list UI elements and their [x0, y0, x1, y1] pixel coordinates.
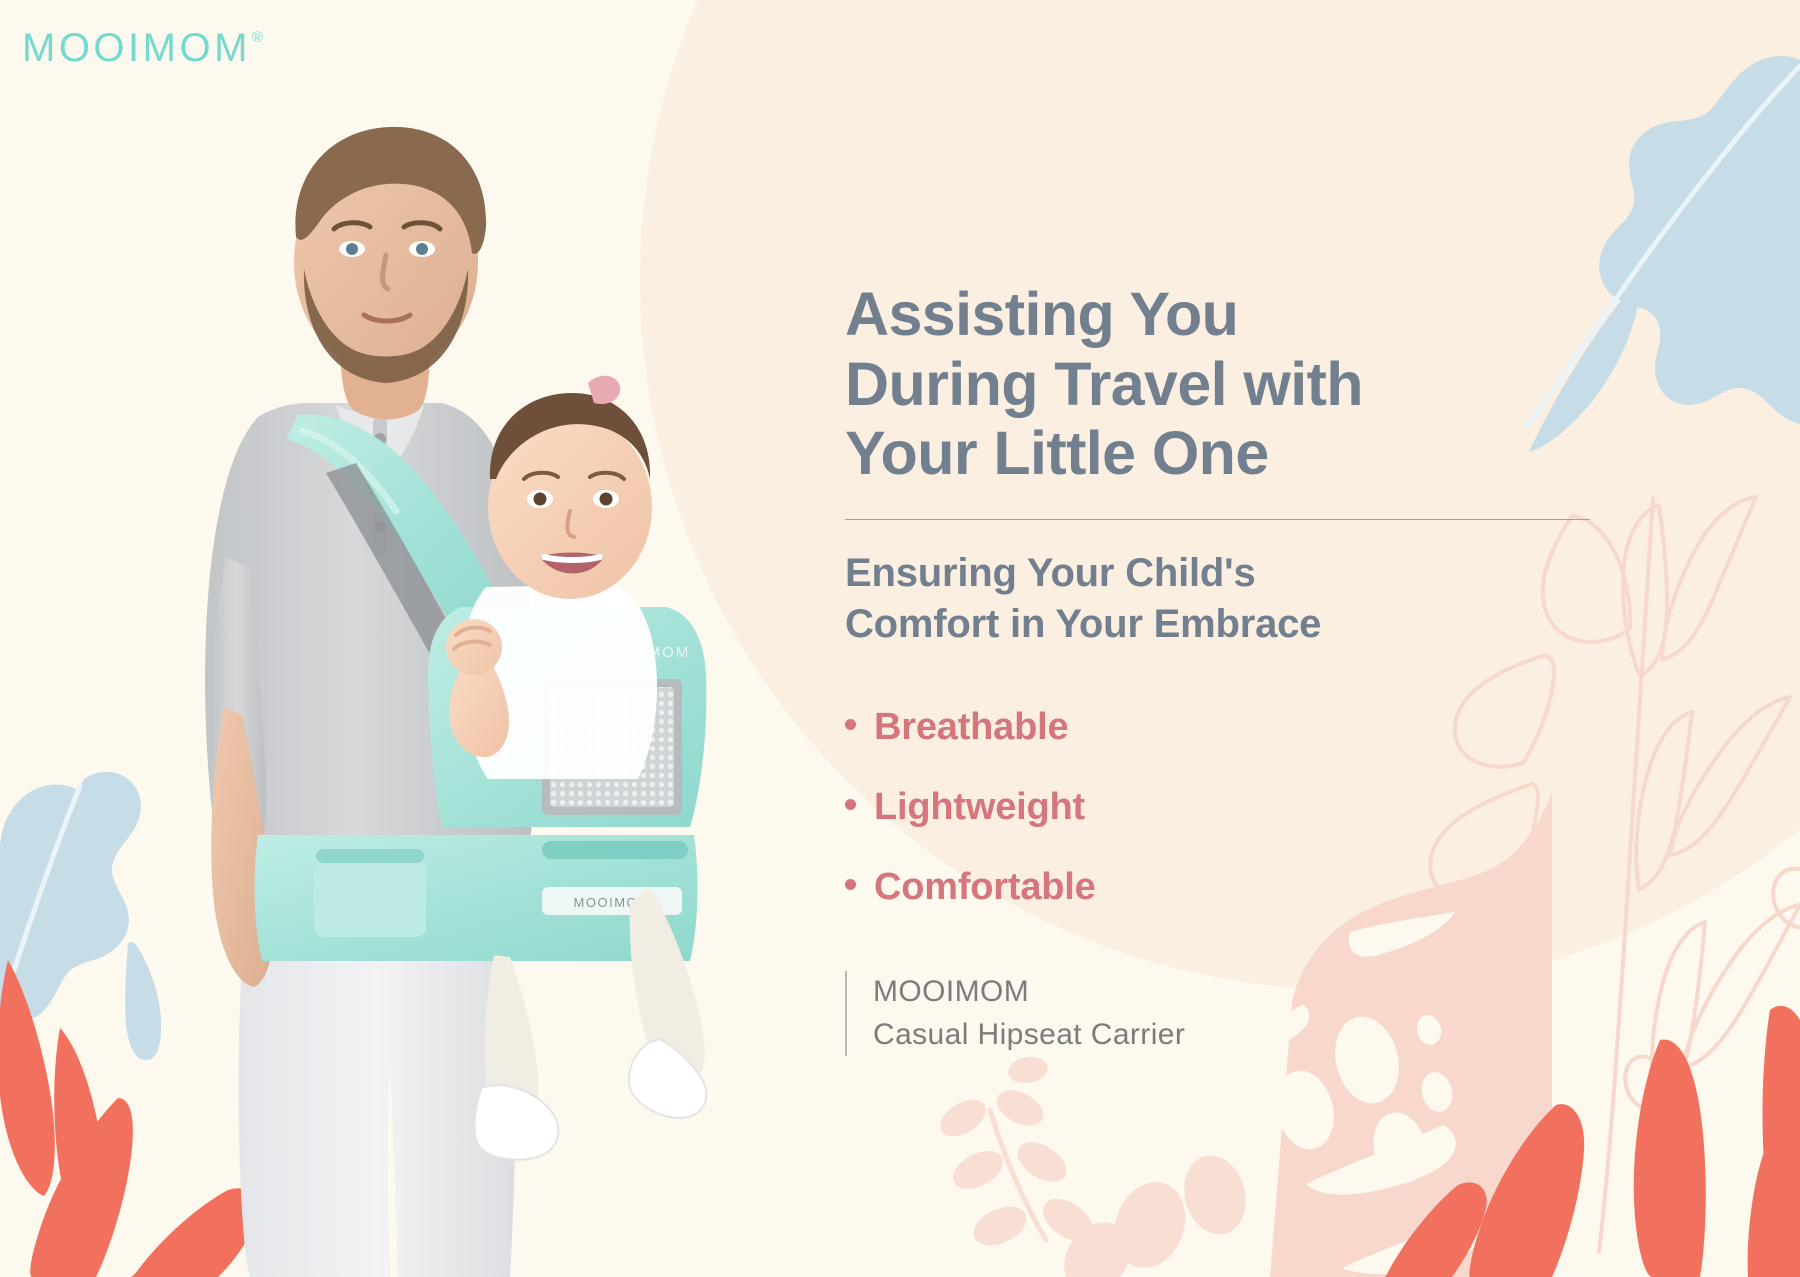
product-brand: MOOIMOM: [873, 971, 1635, 1014]
hipseat-pocket: [314, 859, 426, 937]
product-name: Casual Hipseat Carrier: [873, 1014, 1635, 1057]
feature-label: Comfortable: [874, 866, 1096, 909]
list-item: Breathable: [845, 706, 1635, 749]
feature-label: Lightweight: [874, 786, 1085, 829]
promo-banner: MOOIMOM ®: [0, 0, 1800, 1277]
headline: Assisting You During Travel with Your Li…: [845, 280, 1635, 489]
hero-photo-illustration: MOOIMOM MOOIMOM: [90, 87, 770, 1277]
headline-divider: [845, 519, 1590, 520]
subheadline-line-1: Ensuring Your Child's: [845, 551, 1256, 595]
headline-line-3: Your Little One: [845, 419, 1269, 487]
product-caption: MOOIMOM Casual Hipseat Carrier: [845, 971, 1635, 1056]
bullet-dot-icon: [845, 799, 856, 810]
sprig-bottom-center-2: [1051, 1149, 1255, 1277]
baby-shoe-left: [475, 1085, 559, 1160]
bullet-dot-icon: [845, 879, 856, 890]
mooimom-logo: MOOIMOM ®: [22, 28, 263, 68]
bullet-dot-icon: [845, 719, 856, 730]
feature-list: Breathable Lightweight Comfortable: [845, 706, 1635, 909]
hipseat-buckle-strap: [542, 841, 688, 859]
hipseat-pocket-zip: [316, 849, 424, 863]
subheadline: Ensuring Your Child's Comfort in Your Em…: [845, 548, 1635, 650]
headline-line-2: During Travel with: [845, 350, 1363, 418]
headline-line-1: Assisting You: [845, 280, 1238, 348]
list-item: Comfortable: [845, 866, 1635, 909]
list-item: Lightweight: [845, 786, 1635, 829]
baby-teeth: [544, 557, 600, 560]
hero-photo: MOOIMOM MOOIMOM: [90, 87, 770, 1277]
subheadline-line-2: Comfort in Your Embrace: [845, 602, 1321, 646]
registered-trademark-icon: ®: [252, 30, 263, 45]
feature-label: Breathable: [874, 706, 1068, 749]
copy-column: Assisting You During Travel with Your Li…: [845, 280, 1635, 1056]
sprig-bottom-center: [934, 1054, 1101, 1254]
logo-wordmark: MOOIMOM: [22, 28, 251, 68]
